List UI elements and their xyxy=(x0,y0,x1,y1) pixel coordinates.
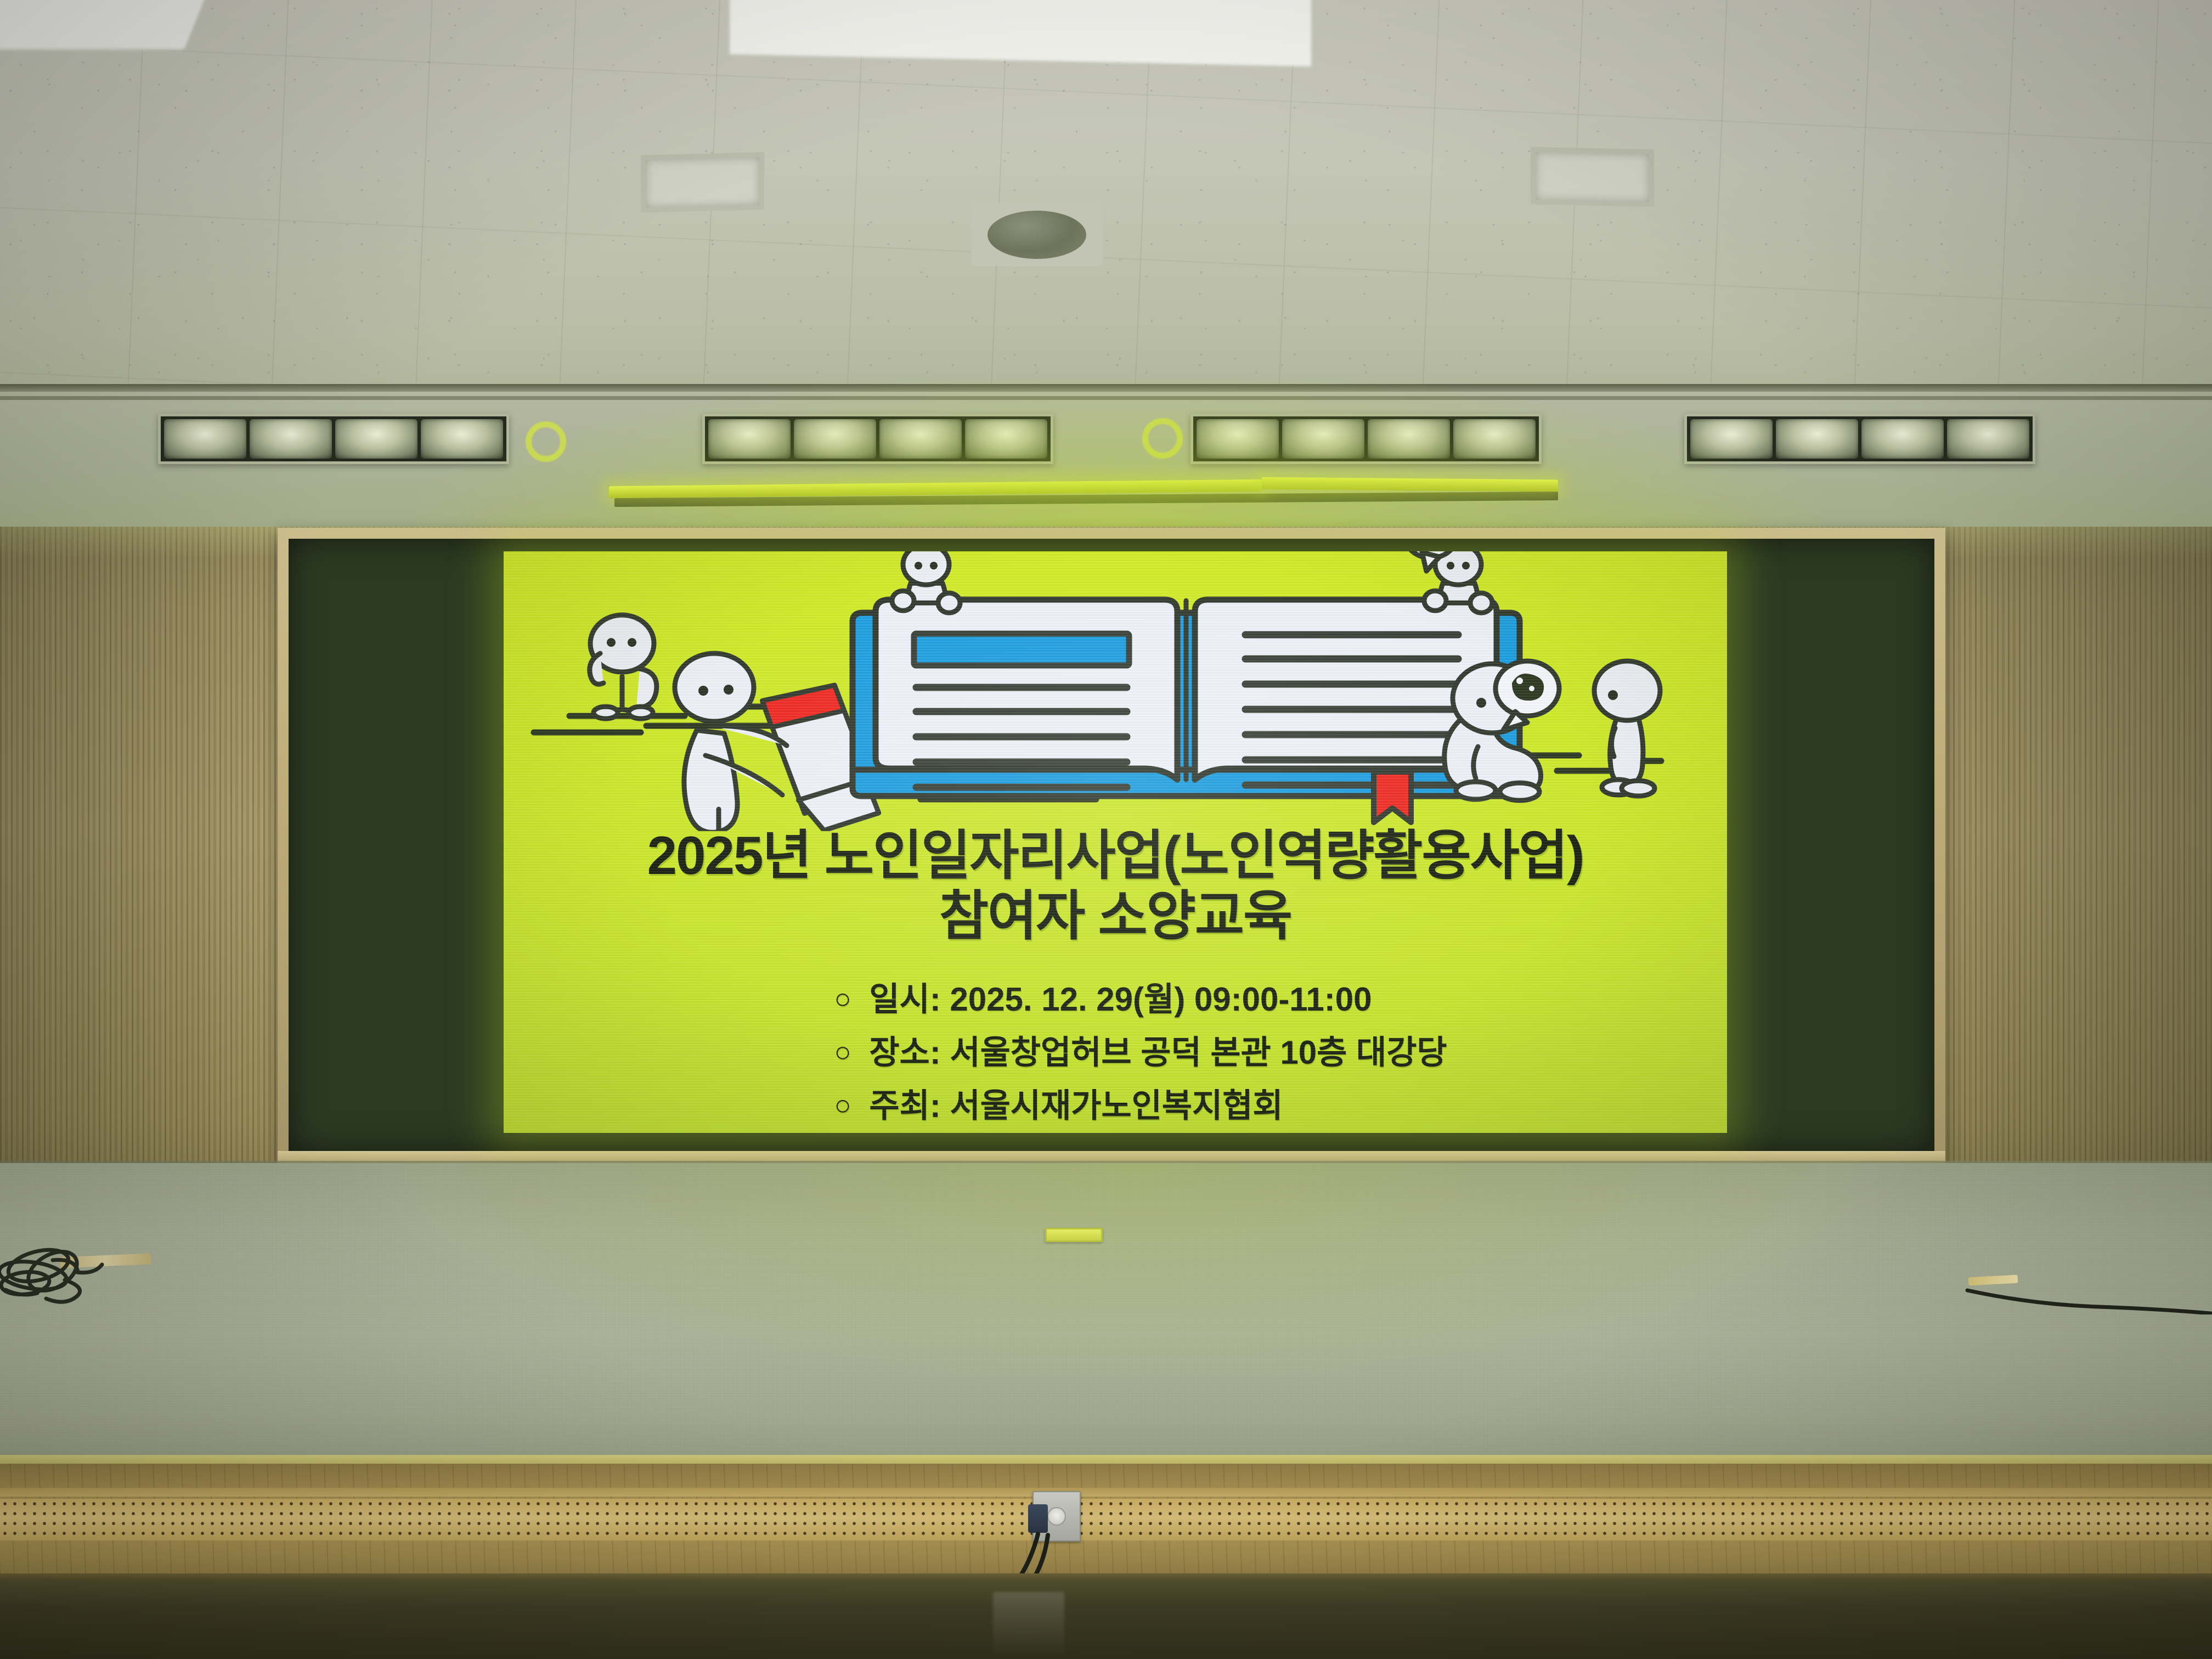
yellow-floor-marker xyxy=(1045,1228,1103,1242)
figure-standing-left xyxy=(590,615,657,719)
downlight-icon xyxy=(965,419,1047,459)
downlight-bank xyxy=(1684,414,2035,464)
right-page-lines xyxy=(1245,635,1458,785)
bullet-marker-icon: ○ xyxy=(834,985,859,1013)
floor-light-spill xyxy=(340,1163,1931,1399)
bullet-item-organizer: ○ 주최: 서울시재가노인복지협회 xyxy=(834,1079,1447,1132)
bullet-item-location: ○ 장소: 서울창업허브 공덕 본관 10층 대강당 xyxy=(834,1026,1447,1079)
downlight-icon xyxy=(164,419,246,459)
downlight-icon xyxy=(1690,419,1773,459)
downlight-icon xyxy=(1776,419,1858,459)
slide-illustration: .ol{fill:#eef0f7;stroke:#333b30;stroke-w… xyxy=(504,551,1727,831)
outlet-socket-icon xyxy=(1047,1507,1066,1526)
ceiling-vent-icon xyxy=(1531,147,1654,207)
downlight-bank xyxy=(702,414,1053,464)
soffit-edge-secondary xyxy=(0,396,2212,400)
projected-slide[interactable]: .ol{fill:#eef0f7;stroke:#333b30;stroke-w… xyxy=(504,551,1727,1133)
bullet-text-location: 장소: 서울창업허브 공덕 본관 10층 대강당 xyxy=(869,1026,1447,1079)
downlight-icon xyxy=(1947,419,2029,459)
downlight-icon xyxy=(1197,419,1279,459)
open-book-icon xyxy=(853,600,1520,822)
downlight-icon xyxy=(1282,419,1364,459)
downlight-icon xyxy=(250,419,332,459)
downlight-glow-icon xyxy=(526,421,566,462)
power-plug[interactable] xyxy=(1028,1504,1048,1533)
slide-title-line2: 참여자 소양교육 xyxy=(526,886,1705,946)
ceiling-light-strip xyxy=(1262,477,1558,492)
downlight-icon xyxy=(879,419,962,459)
ceiling-vent-icon xyxy=(641,152,764,212)
slide-title: 2025년 노인일자리사업(노인역량활용사업) 참여자 소양교육 xyxy=(504,826,1727,946)
downlight-icon xyxy=(1861,419,1944,459)
bullet-text-organizer: 주최: 서울시재가노인복지협회 xyxy=(869,1079,1283,1132)
loose-cable-right xyxy=(1964,1282,2212,1314)
downlight-glow-icon xyxy=(1142,418,1183,459)
ceiling-dome-light-icon xyxy=(971,203,1103,266)
downlight-icon xyxy=(421,419,503,459)
bullet-marker-icon: ○ xyxy=(834,1091,859,1120)
slide-title-line1: 2025년 노인일자리사업(노인역량활용사업) xyxy=(647,825,1583,885)
stage-floor xyxy=(0,1163,2212,1470)
outlet-reflection xyxy=(993,1592,1064,1658)
bookmark-icon xyxy=(1374,772,1411,822)
downlight-icon xyxy=(335,419,417,459)
slide-bullet-list: ○ 일시: 2025. 12. 29(월) 09:00-11:00 ○ 장소: … xyxy=(783,973,1447,1133)
downlight-icon xyxy=(1453,419,1536,459)
soffit-edge xyxy=(0,384,2212,392)
slide-text-block: 2025년 노인일자리사업(노인역량활용사업) 참여자 소양교육 ○ 일시: 2… xyxy=(504,826,1727,1132)
auditorium-photo-scene: .ol{fill:#eef0f7;stroke:#333b30;stroke-w… xyxy=(0,0,2212,1659)
downlight-icon xyxy=(1368,419,1450,459)
figure-standing-right xyxy=(1594,661,1660,796)
bullet-text-date: 일시: 2025. 12. 29(월) 09:00-11:00 xyxy=(869,973,1372,1026)
downlight-icon xyxy=(794,419,876,459)
downlight-bank xyxy=(158,414,509,464)
perforation-pattern xyxy=(0,1499,2212,1541)
floor-below-stage xyxy=(0,1580,2212,1659)
stage-apron xyxy=(0,1464,2212,1591)
downlight-icon xyxy=(708,419,791,459)
bullet-marker-icon: ○ xyxy=(834,1038,859,1066)
apron-upper-rail xyxy=(0,1488,2212,1497)
bullet-item-date: ○ 일시: 2025. 12. 29(월) 09:00-11:00 xyxy=(834,973,1447,1026)
coiled-cable xyxy=(0,1237,198,1308)
figure-on-book-left xyxy=(892,551,960,613)
window-glare-left xyxy=(0,0,211,49)
downlight-bank xyxy=(1190,414,1542,464)
perforated-acoustic-band xyxy=(0,1499,2212,1541)
